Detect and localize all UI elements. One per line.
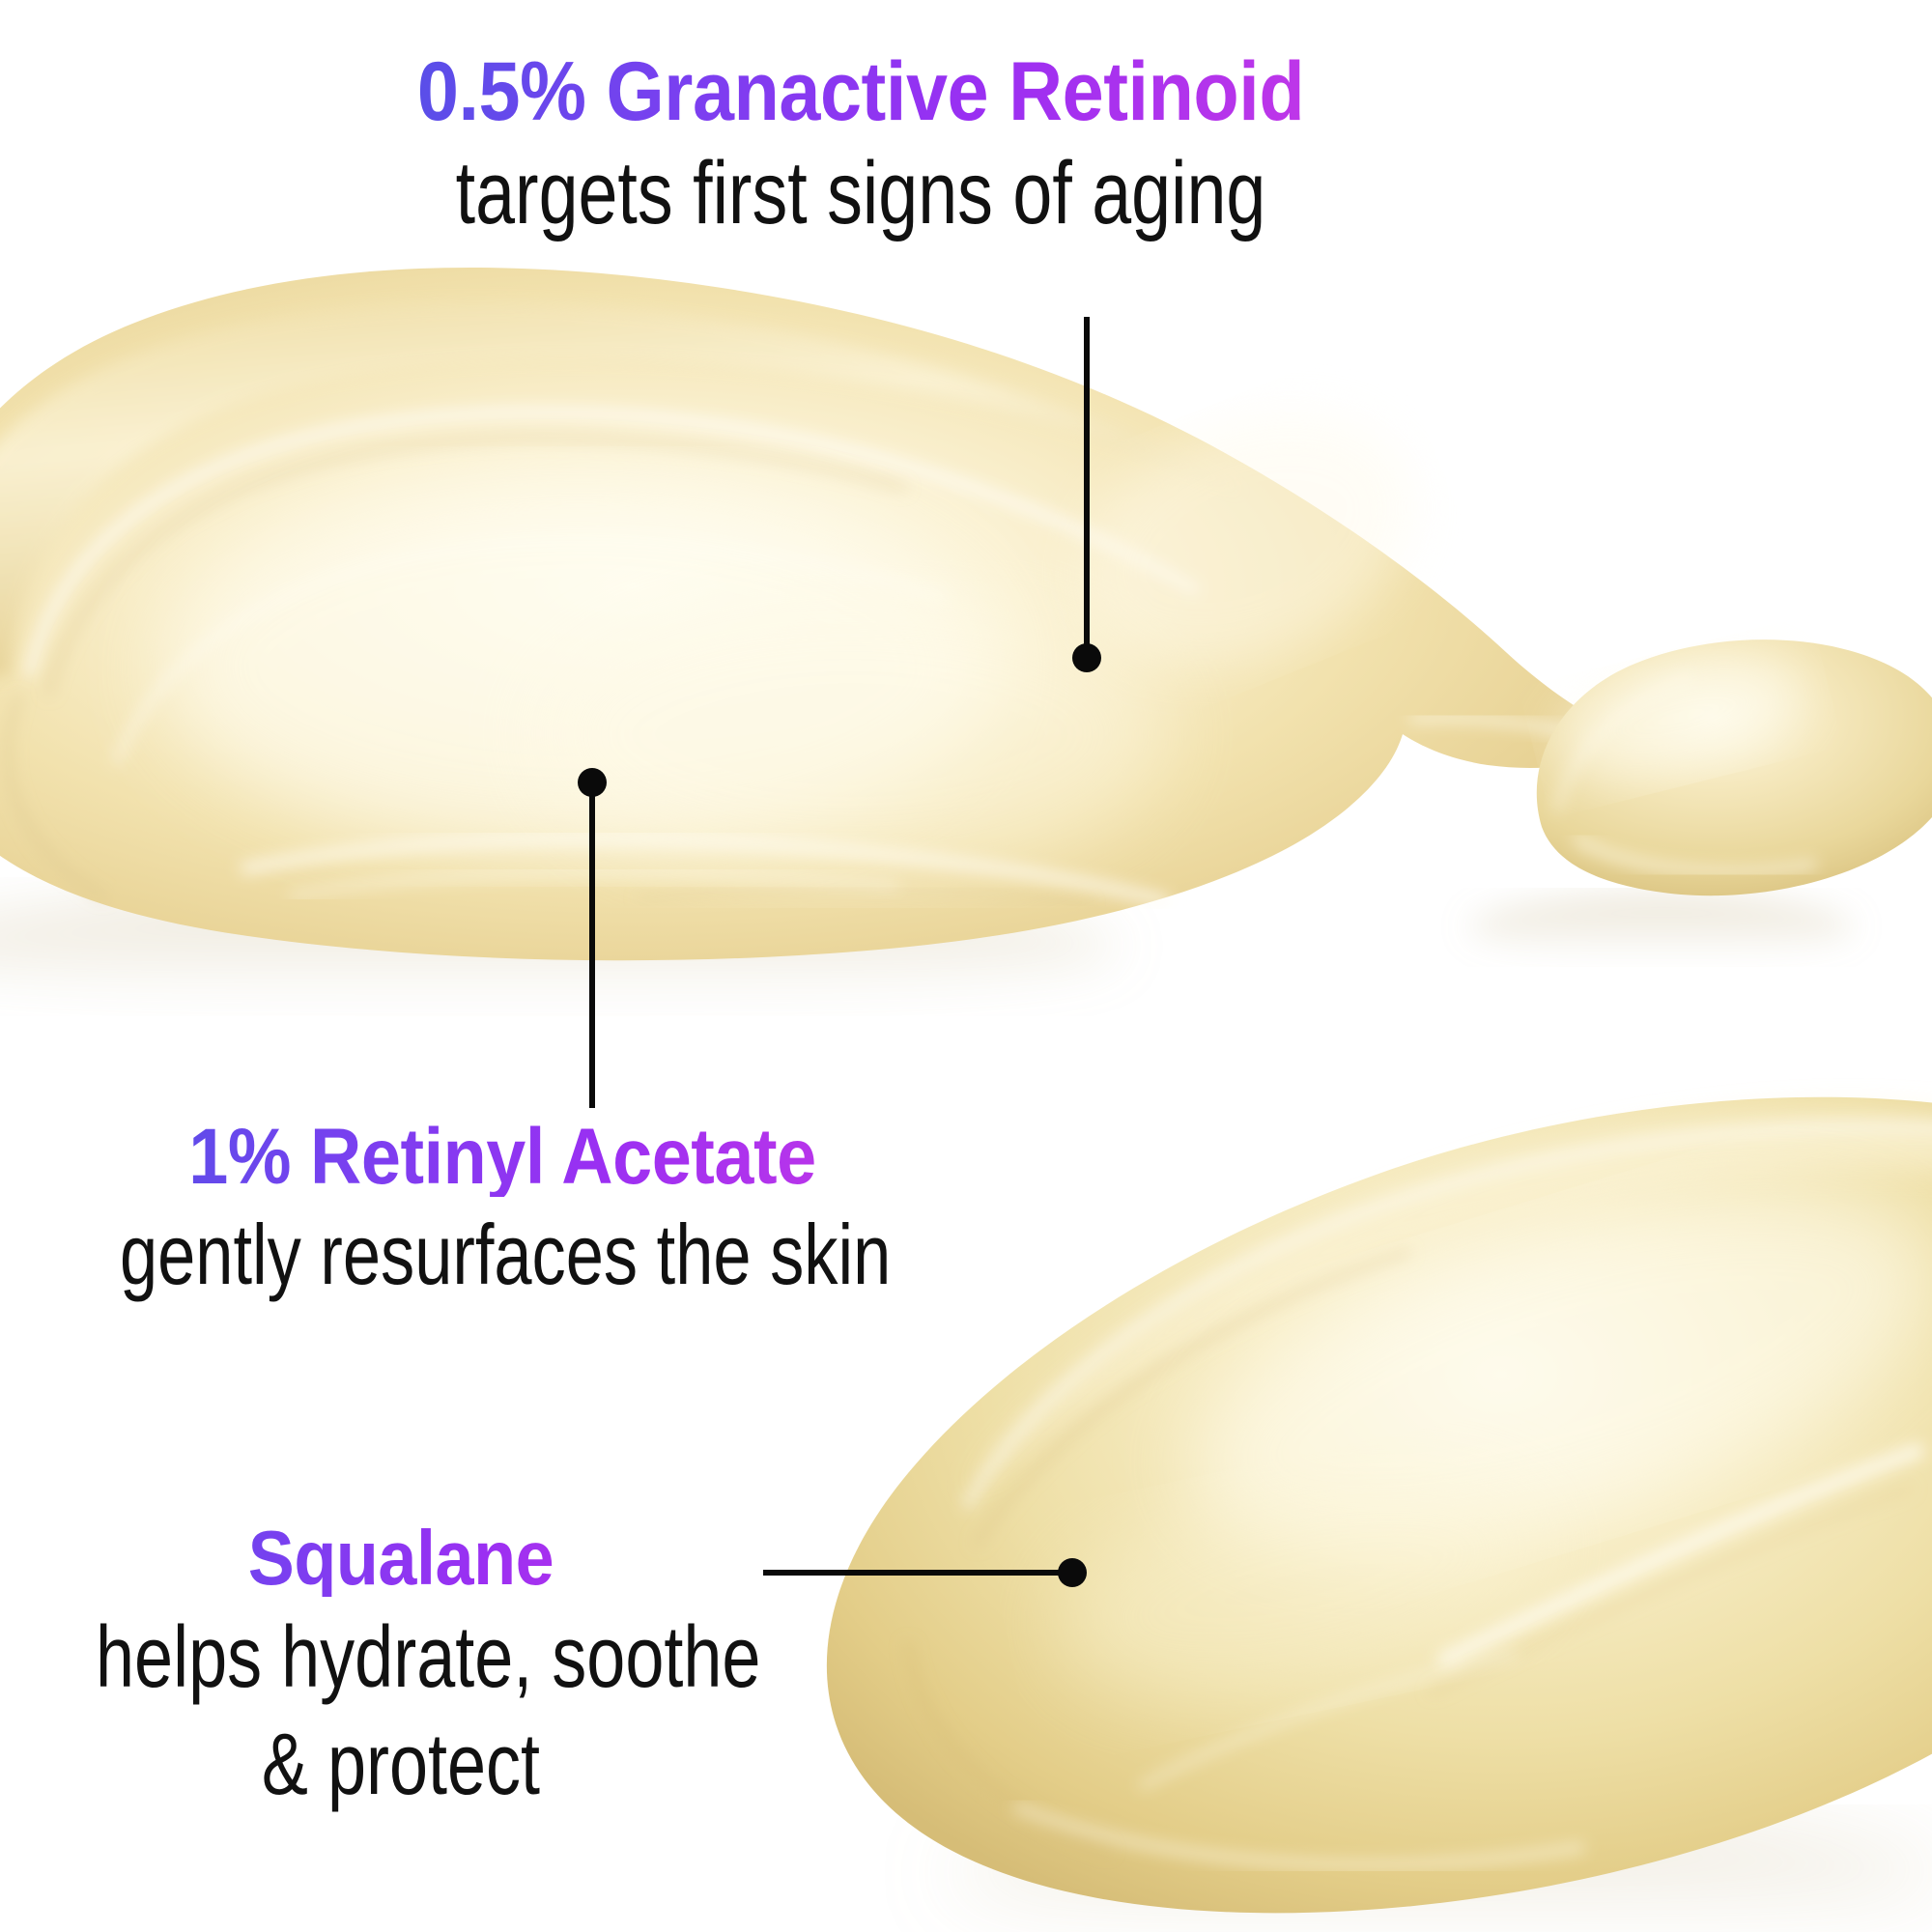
leader-dot-icon [1058,1558,1087,1587]
ingredient-name-granactive-retinoid: 0.5% Granactive Retinoid [335,50,1387,133]
cream-swatch-lower [827,1097,1932,1914]
leader-stem-horizontal [763,1570,1072,1576]
leader-dot-icon [578,768,607,797]
callout-granactive-retinoid: 0.5% Granactive Retinoid targets first s… [276,50,1445,241]
callout-squalane: Squalane helps hydrate, soothe & protect [19,1520,782,1810]
ingredient-name-retinyl-acetate: 1% Retinyl Acetate [72,1118,933,1197]
ingredient-benefit-squalane-line1: helps hydrate, soothe [96,1612,706,1704]
ingredient-benefit-retinyl-acetate: gently resurfaces the skin [120,1210,885,1299]
ingredient-benefit-granactive-retinoid: targets first signs of aging [393,147,1328,241]
ingredient-benefit-squalane-line2: & protect [96,1719,706,1811]
cream-swatch-main [0,268,1642,960]
leader-stem-vertical [589,781,595,1108]
cream-swatch-droplet [1537,632,1932,895]
leader-stem-vertical [1084,317,1090,657]
callout-retinyl-acetate: 1% Retinyl Acetate gently resurfaces the… [24,1118,980,1299]
ingredient-name-squalane: Squalane [58,1520,745,1597]
product-ingredient-infographic: 0.5% Granactive Retinoid targets first s… [0,0,1932,1932]
leader-dot-icon [1072,643,1101,672]
